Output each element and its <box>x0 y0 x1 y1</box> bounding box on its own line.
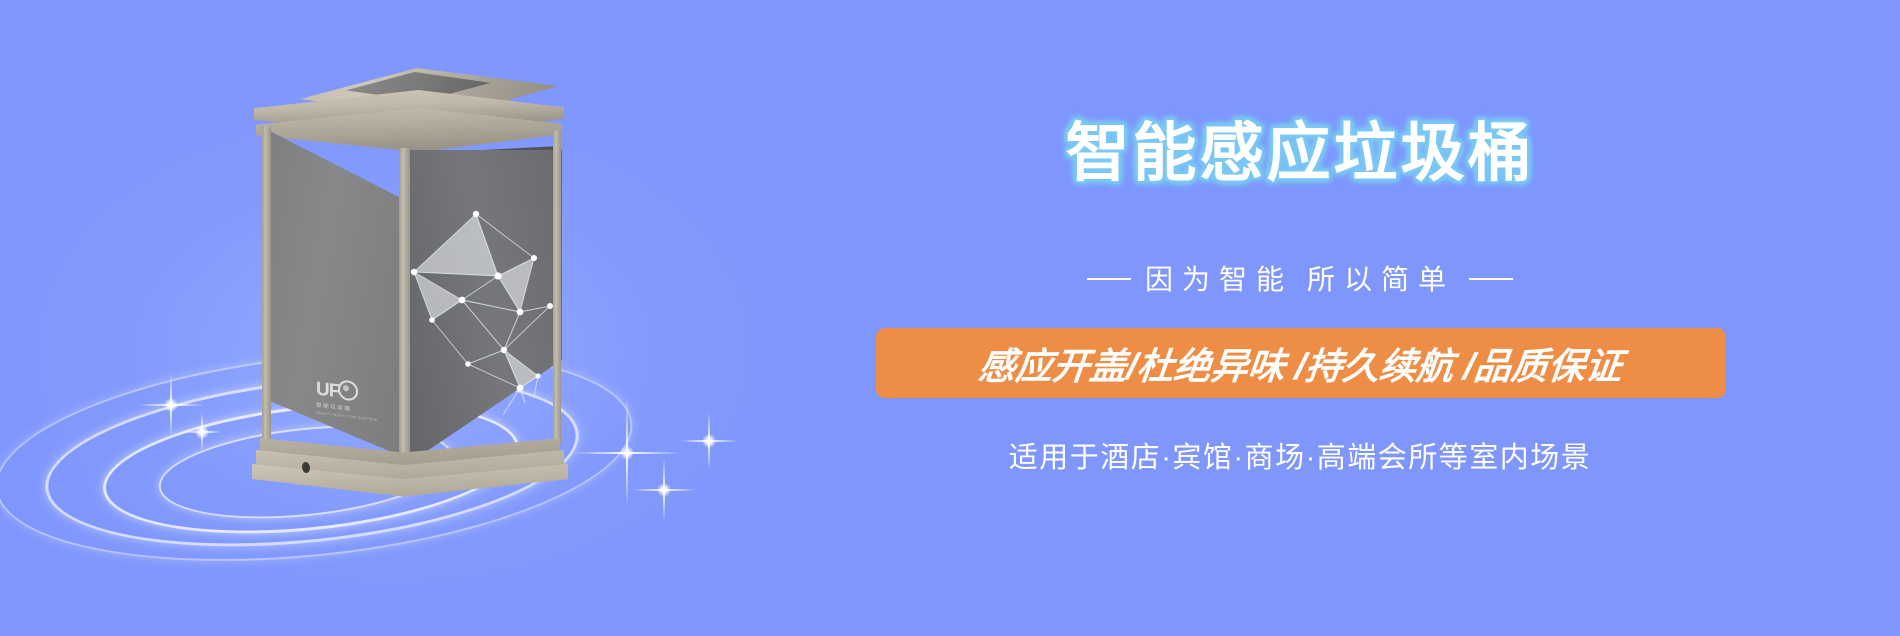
sparkle-icon <box>632 458 696 522</box>
logo-circle-mark <box>338 379 358 401</box>
bin-corner-post-mid <box>399 148 410 468</box>
sparkle-icon <box>680 412 738 470</box>
bin-base-plinth <box>252 438 566 500</box>
sparkle-icon <box>182 412 222 452</box>
bin-network-pattern <box>402 180 562 470</box>
product-illustration: UF 智能垃圾桶 SMART INDUCTION DUSTBIN <box>120 40 820 560</box>
promo-banner: UF 智能垃圾桶 SMART INDUCTION DUSTBIN 智能感应垃圾桶… <box>0 0 1900 636</box>
sparkle-icon <box>572 398 682 508</box>
subtitle-dash-right <box>1469 278 1513 280</box>
feature-band: 感应开盖/杜绝异味 /持久续航 /品质保证 <box>876 328 1726 398</box>
bin-corner-post-left <box>262 126 271 445</box>
smart-trash-bin: UF 智能垃圾桶 SMART INDUCTION DUSTBIN <box>250 60 570 480</box>
usage-scenarios-text: 适用于酒店·宾馆·商场·高端会所等室内场景 <box>860 434 1740 476</box>
feature-band-text: 感应开盖/杜绝异味 /持久续航 /品质保证 <box>976 336 1625 390</box>
banner-subtitle: 因为智能所以简单 <box>860 258 1740 298</box>
bin-sensor-icon <box>302 461 310 473</box>
banner-copy-column: 智能感应垃圾桶 因为智能所以简单 感应开盖/杜绝异味 /持久续航 /品质保证 适… <box>860 0 1900 636</box>
page-title: 智能感应垃圾桶 <box>860 118 1740 188</box>
bin-corner-post-right <box>553 130 561 445</box>
subtitle-part-1: 因为智能 <box>1145 264 1293 295</box>
sparkle-icon <box>138 372 204 438</box>
subtitle-part-2: 所以简单 <box>1307 264 1455 295</box>
subtitle-dash-left <box>1087 278 1131 280</box>
ufo-brand-logo: UF 智能垃圾桶 SMART INDUCTION DUSTBIN <box>316 377 372 426</box>
logo-wordmark: UF <box>316 379 339 403</box>
